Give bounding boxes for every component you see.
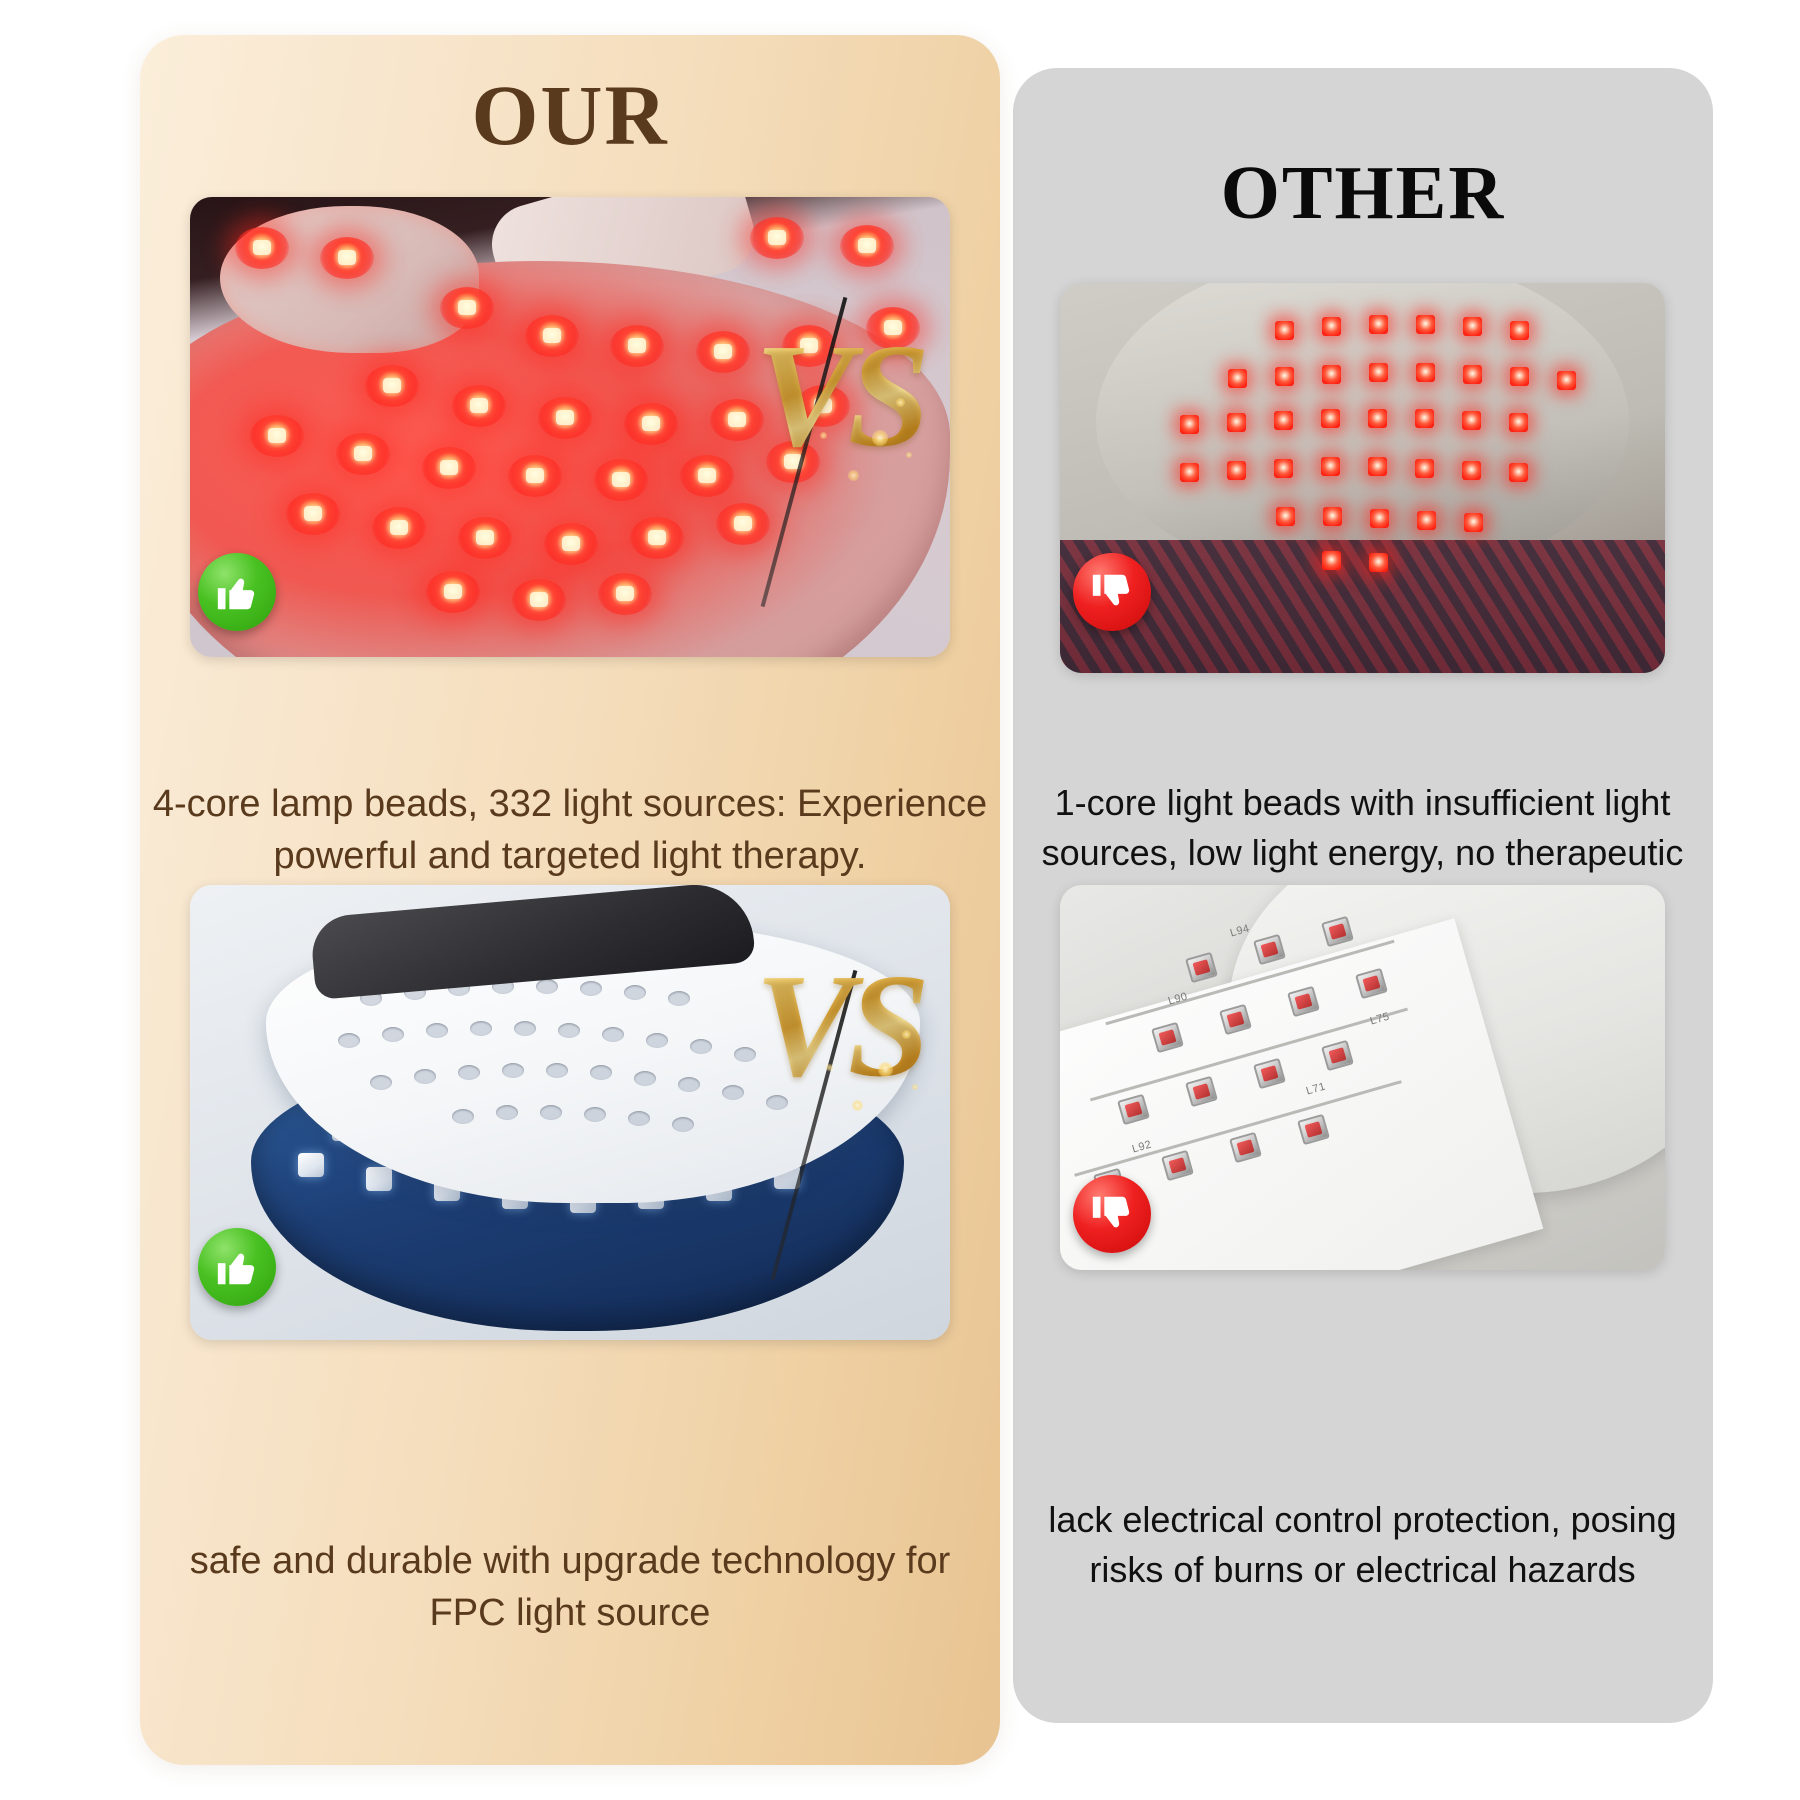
other-row-1-image (1060, 283, 1665, 673)
versus-badge-bottom: VS (755, 952, 924, 1100)
versus-badge-top: VS (755, 322, 924, 470)
thumbs-down-icon (1073, 553, 1151, 631)
thumbs-up-icon (198, 553, 276, 631)
our-row-2-caption: safe and durable with upgrade technology… (170, 1535, 970, 1640)
other-row-2-caption: lack electrical control protection, posi… (1030, 1495, 1695, 1594)
other-column-title: OTHER (1013, 155, 1713, 231)
our-row-1-caption: 4-core lamp beads, 332 light sources: Ex… (150, 778, 990, 883)
thumbs-down-icon (1073, 1175, 1151, 1253)
thumbs-up-icon (198, 1228, 276, 1306)
our-column-title: OUR (140, 72, 1000, 158)
